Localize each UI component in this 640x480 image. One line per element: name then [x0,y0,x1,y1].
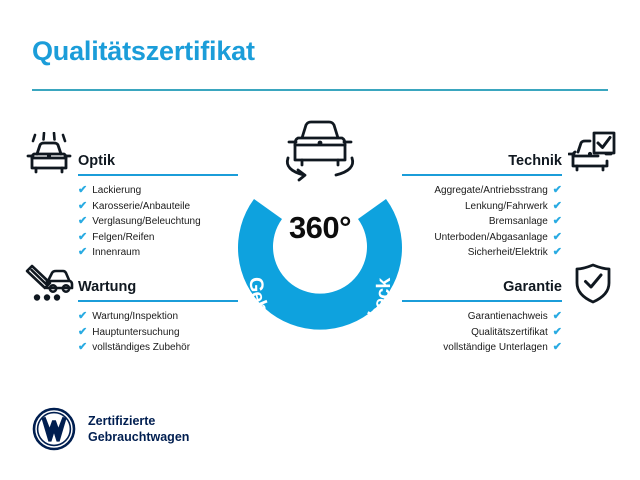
list-item-label: Aggregate/Antriebsstrang [434,183,547,199]
section-garantie: Garantie Garantienachweis✔ Qualitätszert… [402,272,562,356]
check-icon: ✔ [78,216,87,227]
section-wartung-title: Wartung [78,279,136,295]
page-title: Qualitätszertifikat [32,36,255,67]
check-icon: ✔ [553,185,562,196]
check-icon: ✔ [553,232,562,243]
list-item: Garantienachweis✔ [402,309,562,325]
check-icon: ✔ [553,327,562,338]
footer-brand: Zertifizierte Gebrauchtwagen [32,407,189,451]
check-icon: ✔ [553,247,562,258]
check-icon: ✔ [78,247,87,258]
list-item: ✔Lackierung [78,183,238,199]
list-item-label: Hauptuntersuchung [92,325,179,341]
section-wartung-divider [78,300,238,302]
section-garantie-header: Garantie [402,272,562,302]
list-item: vollständige Unterlagen✔ [402,340,562,356]
section-technik-divider [402,174,562,176]
list-item: Qualitätszertifikat✔ [402,325,562,341]
list-item: Lenkung/Fahrwerk✔ [402,199,562,215]
list-item-label: Sicherheit/Elektrik [468,245,548,261]
check-icon: ✔ [78,185,87,196]
check-icon: ✔ [78,327,87,338]
list-item: ✔Verglasung/Beleuchtung [78,214,238,230]
check-icon: ✔ [78,311,87,322]
section-optik: Optik ✔Lackierung ✔Karosserie/Anbauteile… [78,146,238,261]
section-technik-list: Aggregate/Antriebsstrang✔ Lenkung/Fahrwe… [402,183,562,261]
footer-brand-text: Zertifizierte Gebrauchtwagen [88,413,189,445]
section-optik-divider [78,174,238,176]
list-item: Sicherheit/Elektrik✔ [402,245,562,261]
volkswagen-logo [32,407,76,451]
list-item: ✔Karosserie/Anbauteile [78,199,238,215]
list-item: Aggregate/Antriebsstrang✔ [402,183,562,199]
list-item: ✔Hauptuntersuchung [78,325,238,341]
shield-check-icon [573,263,613,310]
badge-degrees-label: 360° [228,210,412,246]
section-technik-title: Technik [508,153,562,169]
check-icon: ✔ [78,201,87,212]
section-technik: Technik Aggregate/Antriebsstrang✔ Lenkun… [402,146,562,261]
list-item-label: Lenkung/Fahrwerk [465,199,548,215]
list-item: Bremsanlage✔ [402,214,562,230]
check-icon: ✔ [553,216,562,227]
check-icon: ✔ [553,201,562,212]
section-technik-header: Technik [402,146,562,176]
list-item-label: Karosserie/Anbauteile [92,199,190,215]
section-garantie-list: Garantienachweis✔ Qualitätszertifikat✔ v… [402,309,562,356]
footer-line-1: Zertifizierte [88,413,189,429]
list-item-label: Felgen/Reifen [92,230,154,246]
section-wartung-header: Wartung [78,272,238,302]
footer-line-2: Gebrauchtwagen [88,429,189,445]
qualitaetszertifikat-page: Qualitätszertifikat Optik ✔Lackierung ✔K… [0,0,640,480]
list-item-label: vollständiges Zubehör [92,340,190,356]
section-optik-header: Optik [78,146,238,176]
list-item-label: Verglasung/Beleuchtung [92,214,200,230]
section-garantie-title: Garantie [503,279,562,295]
list-item-label: vollständige Unterlagen [443,340,548,356]
title-divider [32,89,608,91]
list-item-label: Wartung/Inspektion [92,309,178,325]
check-icon: ✔ [553,342,562,353]
list-item-label: Unterboden/Abgasanlage [434,230,547,246]
list-item: ✔Wartung/Inspektion [78,309,238,325]
check-icon: ✔ [553,311,562,322]
car-shine-icon [24,132,74,181]
list-item-label: Qualitätszertifikat [471,325,548,341]
list-item-label: Innenraum [92,245,140,261]
car-service-pen-icon [24,264,74,309]
list-item-label: Garantienachweis [468,309,548,325]
section-optik-list: ✔Lackierung ✔Karosserie/Anbauteile ✔Verg… [78,183,238,261]
section-wartung: Wartung ✔Wartung/Inspektion ✔Hauptunters… [78,272,238,356]
list-item-label: Lackierung [92,183,141,199]
list-item-label: Bremsanlage [489,214,548,230]
check-icon: ✔ [78,232,87,243]
section-garantie-divider [402,300,562,302]
car-rotate-360-icon [270,118,370,184]
list-item: ✔vollständiges Zubehör [78,340,238,356]
section-optik-title: Optik [78,153,115,169]
section-wartung-list: ✔Wartung/Inspektion ✔Hauptuntersuchung ✔… [78,309,238,356]
list-item: Unterboden/Abgasanlage✔ [402,230,562,246]
list-item: ✔Innenraum [78,245,238,261]
car-checkbox-icon [568,131,616,180]
check-icon: ✔ [78,342,87,353]
list-item: ✔Felgen/Reifen [78,230,238,246]
